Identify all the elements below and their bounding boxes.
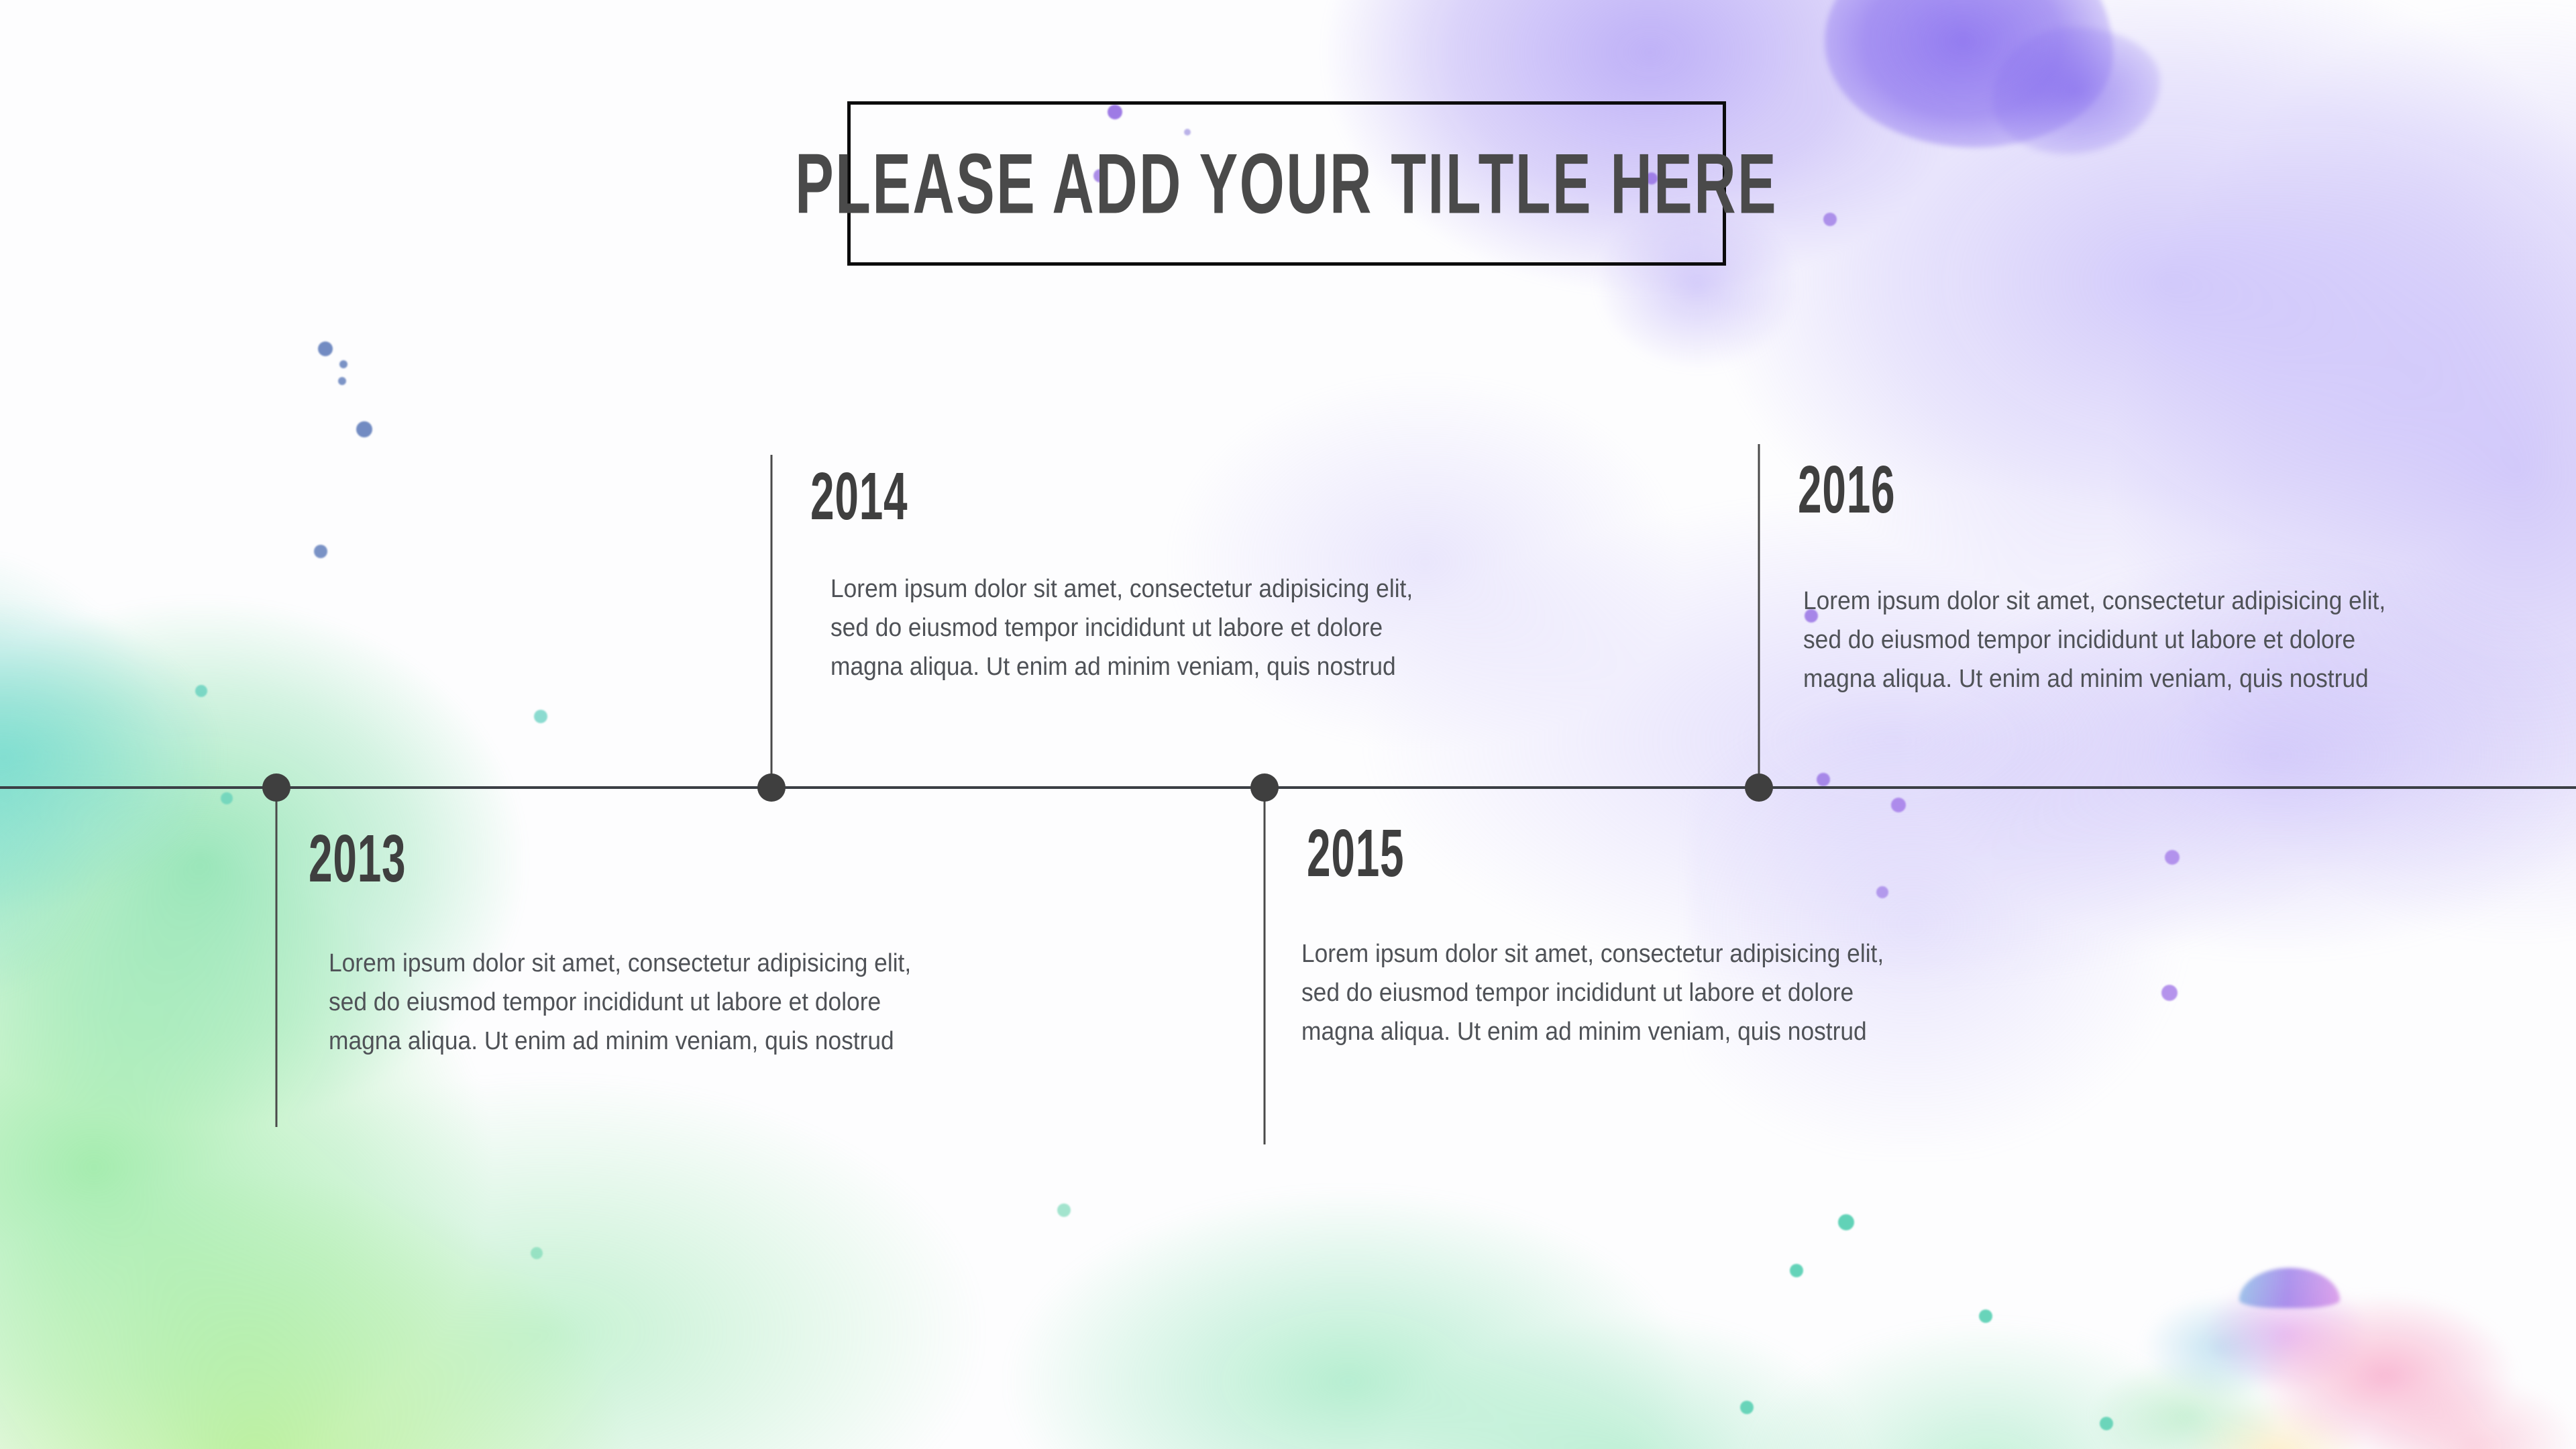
event-description-line: sed do eiusmod tempor incididunt ut labo… bbox=[329, 983, 959, 1022]
paint-speck bbox=[314, 545, 327, 558]
paint-speck bbox=[534, 710, 547, 723]
event-description-line: magna aliqua. Ut enim ad minim veniam, q… bbox=[1301, 1013, 1931, 1052]
paint-speck bbox=[338, 377, 346, 385]
rainbow-arc-accent bbox=[2239, 1268, 2340, 1308]
timeline-connector-stem bbox=[276, 792, 278, 1127]
paint-speck bbox=[1790, 1264, 1803, 1277]
green-watercolor-right bbox=[1677, 1234, 2348, 1449]
rainbow-splash bbox=[2066, 1194, 2576, 1449]
event-description-line: magna aliqua. Ut enim ad minim veniam, q… bbox=[1803, 660, 2433, 699]
violet-blot-primary bbox=[1825, 0, 2113, 148]
event-description: Lorem ipsum dolor sit amet, consectetur … bbox=[830, 570, 1460, 686]
timeline-axis bbox=[0, 786, 2576, 789]
timeline-connector-stem bbox=[1758, 444, 1760, 782]
timeline-event-2016: 2016Lorem ipsum dolor sit amet, consecte… bbox=[1798, 463, 2481, 698]
timeline-event-2015: 2015Lorem ipsum dolor sit amet, consecte… bbox=[1301, 826, 1979, 1051]
paint-speck bbox=[318, 341, 333, 356]
event-description-line: sed do eiusmod tempor incididunt ut labo… bbox=[830, 609, 1460, 648]
paint-speck bbox=[2161, 985, 2178, 1001]
event-year-label: 2014 bbox=[810, 464, 1354, 531]
timeline-event-2014: 2014Lorem ipsum dolor sit amet, consecte… bbox=[810, 470, 1508, 686]
paint-speck bbox=[1823, 213, 1837, 226]
paint-speck bbox=[1057, 1203, 1071, 1217]
event-description-line: sed do eiusmod tempor incididunt ut labo… bbox=[1301, 974, 1931, 1013]
paint-speck bbox=[1838, 1214, 1854, 1230]
paint-speck bbox=[221, 792, 233, 804]
event-description-line: Lorem ipsum dolor sit amet, consectetur … bbox=[1803, 582, 2433, 621]
event-description: Lorem ipsum dolor sit amet, consectetur … bbox=[1803, 582, 2433, 698]
timeline-connector-stem bbox=[1264, 792, 1266, 1144]
timeline-node-2016[interactable] bbox=[1745, 773, 1773, 802]
timeline-connector-stem bbox=[771, 455, 773, 782]
timeline-node-2015[interactable] bbox=[1250, 773, 1279, 802]
title-box: PLEASE ADD YOUR TILTLE HERE bbox=[847, 101, 1726, 266]
paint-speck bbox=[531, 1247, 543, 1259]
paint-speck bbox=[339, 360, 347, 368]
paint-speck bbox=[195, 685, 207, 697]
paint-speck bbox=[1817, 773, 1830, 786]
event-description-line: Lorem ipsum dolor sit amet, consectetur … bbox=[830, 570, 1460, 609]
event-description: Lorem ipsum dolor sit amet, consectetur … bbox=[329, 945, 959, 1061]
timeline-event-2013: 2013Lorem ipsum dolor sit amet, consecte… bbox=[309, 832, 1006, 1061]
event-description-line: Lorem ipsum dolor sit amet, consectetur … bbox=[1301, 935, 1931, 974]
paint-speck bbox=[1740, 1401, 1754, 1414]
event-description-line: sed do eiusmod tempor incididunt ut labo… bbox=[1803, 621, 2433, 660]
event-description: Lorem ipsum dolor sit amet, consectetur … bbox=[1301, 935, 1931, 1051]
page-title: PLEASE ADD YOUR TILTLE HERE bbox=[796, 141, 1778, 226]
green-watercolor-center bbox=[906, 1073, 1912, 1449]
paint-speck bbox=[1891, 798, 1906, 812]
timeline-slide: PLEASE ADD YOUR TILTLE HERE 2013Lorem ip… bbox=[0, 0, 2576, 1449]
event-description-line: magna aliqua. Ut enim ad minim veniam, q… bbox=[329, 1022, 959, 1061]
paint-speck bbox=[356, 421, 372, 437]
event-year-label: 2015 bbox=[1307, 820, 1831, 888]
event-year-label: 2013 bbox=[309, 826, 853, 893]
violet-blot-secondary bbox=[1992, 27, 2160, 154]
event-year-label: 2016 bbox=[1798, 457, 2330, 524]
timeline-node-2014[interactable] bbox=[757, 773, 786, 802]
event-description-line: Lorem ipsum dolor sit amet, consectetur … bbox=[329, 945, 959, 983]
timeline-node-2013[interactable] bbox=[262, 773, 290, 802]
paint-speck bbox=[1979, 1309, 1992, 1323]
paint-speck bbox=[2100, 1417, 2113, 1430]
paint-speck bbox=[2165, 850, 2180, 865]
event-description-line: magna aliqua. Ut enim ad minim veniam, q… bbox=[830, 648, 1460, 687]
